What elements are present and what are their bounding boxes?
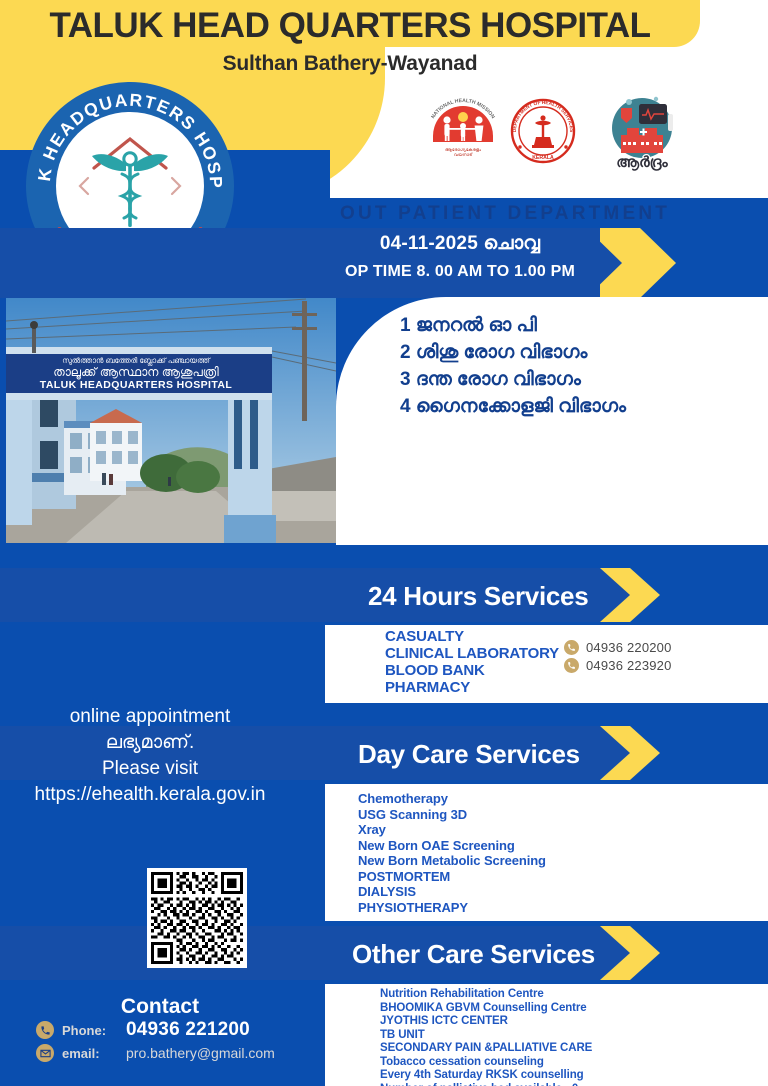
phone-icon bbox=[564, 640, 579, 655]
svg-text:KERALA: KERALA bbox=[532, 155, 554, 161]
other-care-item: JYOTHIS ICTC CENTER bbox=[380, 1015, 592, 1029]
opd-date: 04-11-2025 ചൊവ്വ bbox=[330, 233, 590, 255]
services-24h-title: 24 Hours Services bbox=[368, 581, 588, 612]
appointment-line-2: ലഭ്യമാണ്. bbox=[0, 730, 300, 756]
contact-details: Phone: 04936 221200 email: pro.bathery@g… bbox=[36, 1019, 326, 1065]
services-24h-item: PHARMACY bbox=[385, 679, 559, 696]
svg-text:TALUK HEADQUARTERS HOSPITAL: TALUK HEADQUARTERS HOSPITAL bbox=[26, 82, 226, 190]
page-subtitle: Sulthan Bathery-Wayanad bbox=[0, 52, 700, 76]
services-24h-list: CASUALTY CLINICAL LABORATORY BLOOD BANK … bbox=[385, 628, 559, 696]
photo-sign-malayalam: താലൂക്ക് ആസ്ഥാന ആശുപത്രി bbox=[53, 365, 219, 380]
caduceus-icon bbox=[92, 153, 168, 227]
contact-title: Contact bbox=[0, 995, 320, 1019]
day-care-title: Day Care Services bbox=[358, 739, 580, 770]
day-care-item: Chemotherapy bbox=[358, 791, 546, 807]
partner-logos-graphics: NATIONAL HEALTH MISSION ആരോഗ്യകേരളം വയനാ… bbox=[425, 90, 695, 175]
other-care-title: Other Care Services bbox=[352, 939, 595, 970]
services-24h-item: CASUALTY bbox=[385, 628, 559, 645]
opd-department-item: 1 ജനറൽ ഓ പി bbox=[400, 312, 626, 339]
day-care-item: Xray bbox=[358, 822, 546, 838]
phone-icon bbox=[564, 658, 579, 673]
day-care-item: PHYSIOTHERAPY bbox=[358, 900, 546, 916]
day-care-yellow-chevron-tip bbox=[630, 726, 660, 780]
email-icon bbox=[36, 1044, 54, 1062]
contact-phone-row[interactable]: Phone: 04936 221200 bbox=[36, 1019, 326, 1041]
online-appointment-info: online appointment ലഭ്യമാണ്. Please visi… bbox=[0, 704, 300, 808]
services-24h-phone-row[interactable]: 04936 223920 bbox=[564, 658, 672, 673]
day-care-item: POSTMORTEM bbox=[358, 869, 546, 885]
services-24h-phone-row[interactable]: 04936 220200 bbox=[564, 640, 672, 655]
other-care-item: Tobacco cessation counseling bbox=[380, 1056, 592, 1070]
photo-sign-english: TALUK HEADQUARTERS HOSPITAL bbox=[40, 379, 233, 391]
other-care-item: BHOOMIKA GBVM Counselling Centre bbox=[380, 1002, 592, 1016]
other-care-item: TB UNIT bbox=[380, 1029, 592, 1043]
contact-phone-label: Phone: bbox=[62, 1023, 118, 1038]
page-title: TALUK HEAD QUARTERS HOSPITAL bbox=[0, 6, 700, 46]
services-24h-phone-number: 04936 220200 bbox=[586, 640, 672, 655]
contact-email-value: pro.bathery@gmail.com bbox=[126, 1045, 275, 1061]
hospital-entrance-photo: സുൽത്താൻ ബത്തേരി ബ്ലോക്ക് പഞ്ചായത്ത് താല… bbox=[6, 291, 336, 543]
phone-icon bbox=[36, 1021, 54, 1039]
services-24h-band-tip bbox=[600, 568, 630, 622]
logo-arc-text: TALUK HEADQUARTERS HOSPITAL bbox=[26, 82, 226, 190]
aardram-label: ആർദ്രം bbox=[616, 154, 668, 171]
services-24h-phone-number: 04936 223920 bbox=[586, 658, 672, 673]
services-24h-item: CLINICAL LABORATORY bbox=[385, 645, 559, 662]
contact-phone-value: 04936 221200 bbox=[126, 1019, 250, 1041]
contact-email-label: email: bbox=[62, 1046, 118, 1061]
other-care-item: Nutrition Rehabilitation Centre bbox=[380, 988, 592, 1002]
svg-text:വയനാട്: വയനാട് bbox=[454, 152, 473, 157]
appointment-url[interactable]: https://ehealth.kerala.gov.in bbox=[0, 782, 300, 808]
other-care-item: Number of palliative bed available - 0 bbox=[380, 1083, 592, 1086]
national-health-mission-logo: NATIONAL HEALTH MISSION ആരോഗ്യകേരളം വയനാ… bbox=[430, 98, 496, 157]
opd-time: OP TIME 8. 00 AM TO 1.00 PM bbox=[330, 263, 590, 281]
hospital-poster: TALUK HEAD QUARTERS HOSPITAL Sulthan Bat… bbox=[0, 0, 768, 1086]
appointment-line-1: online appointment bbox=[0, 704, 300, 730]
opd-yellow-chevron-tip bbox=[640, 228, 676, 298]
other-care-yellow-chevron-tip bbox=[630, 926, 660, 980]
day-care-item: New Born OAE Screening bbox=[358, 838, 546, 854]
opd-department-item: 3 ദന്ത രോഗ വിഭാഗം bbox=[400, 366, 626, 393]
other-care-band-tip bbox=[600, 926, 630, 980]
day-care-item: DIALYSIS bbox=[358, 884, 546, 900]
qr-code[interactable] bbox=[147, 868, 247, 968]
aardram-logo: ആർദ്രം bbox=[612, 97, 673, 171]
opd-title: OUT PATIENT DEPARTMENT bbox=[340, 203, 670, 225]
contact-email-row[interactable]: email: pro.bathery@gmail.com bbox=[36, 1044, 326, 1062]
services-24h-yellow-chevron-tip bbox=[630, 568, 660, 622]
day-care-list: Chemotherapy USG Scanning 3D Xray New Bo… bbox=[358, 791, 546, 915]
qr-code-graphics bbox=[151, 872, 243, 964]
other-care-item: SECONDARY PAIN &PALLIATIVE CARE bbox=[380, 1042, 592, 1056]
day-care-band-tip bbox=[600, 726, 630, 780]
opd-department-item: 2 ശിശു രോഗ വിഭാഗം bbox=[400, 339, 626, 366]
services-24h-item: BLOOD BANK bbox=[385, 662, 559, 679]
other-care-list: Nutrition Rehabilitation Centre BHOOMIKA… bbox=[380, 988, 592, 1086]
partner-logos: NATIONAL HEALTH MISSION ആരോഗ്യകേരളം വയനാ… bbox=[425, 90, 695, 175]
appointment-line-3: Please visit bbox=[0, 756, 300, 782]
opd-department-list: 1 ജനറൽ ഓ പി 2 ശിശു രോഗ വിഭാഗം 3 ദന്ത രോഗ… bbox=[400, 312, 626, 420]
day-care-item: USG Scanning 3D bbox=[358, 807, 546, 823]
hospital-photo-graphics: സുൽത്താൻ ബത്തേരി ബ്ലോക്ക് പഞ്ചായത്ത് താല… bbox=[6, 291, 336, 543]
other-care-item: Every 4th Saturday RKSK counselling bbox=[380, 1069, 592, 1083]
day-care-item: New Born Metabolic Screening bbox=[358, 853, 546, 869]
opd-department-item: 4 ഗൈനക്കോളജി വിഭാഗം bbox=[400, 393, 626, 420]
department-health-services-kerala-logo: DEPARTMENT OF HEALTH SERVICES KERALA bbox=[512, 100, 574, 162]
opd-band-tip bbox=[586, 228, 622, 298]
